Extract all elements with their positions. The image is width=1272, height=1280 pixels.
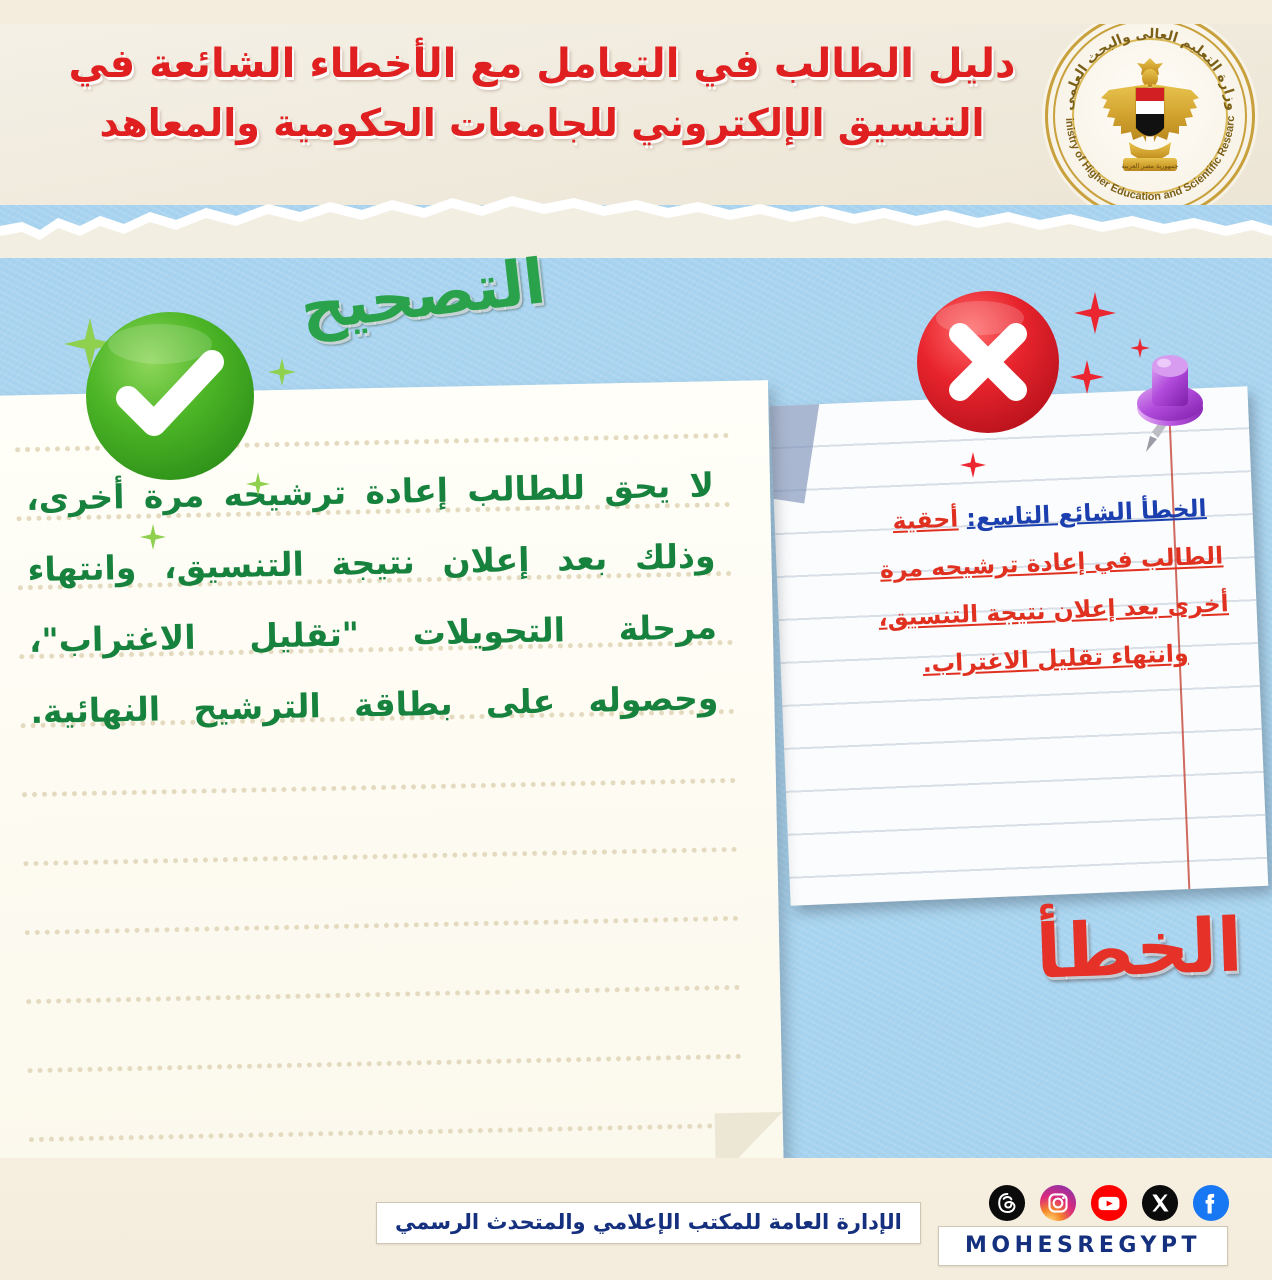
sparkle-icon [268, 358, 296, 386]
page-title: دليل الطالب في التعامل مع الأخطاء الشائع… [62, 34, 1022, 153]
social-links[interactable] [988, 1184, 1230, 1222]
x-circle-icon [912, 286, 1064, 438]
handle-badge: MOHESREGYPT [938, 1226, 1228, 1266]
sparkle-icon [1130, 338, 1150, 358]
emblem-caption: جمهورية مصر العربية [1121, 162, 1178, 170]
error-label: الخطأ [1034, 902, 1243, 995]
x-twitter-icon[interactable] [1141, 1184, 1179, 1222]
title-line-1: دليل الطالب في التعامل مع الأخطاء الشائع… [62, 34, 1022, 95]
facebook-icon[interactable] [1192, 1184, 1230, 1222]
sparkle-icon [1074, 292, 1116, 334]
sparkle-icon [140, 524, 166, 550]
footer-bar: الإدارة العامة للمكتب الإعلامي والمتحدث … [0, 1158, 1272, 1280]
error-body-text: أحقية الطالب في إعادة ترشيحه مرة أخرى بع… [878, 504, 1229, 678]
sparkle-icon [960, 452, 986, 478]
threads-icon[interactable] [988, 1184, 1026, 1222]
dotted-rule-line [29, 1123, 743, 1142]
dotted-rule-line [26, 985, 740, 1004]
footer-gold-curve [0, 0, 1272, 24]
correction-card: لا يحق للطالب إعادة ترشيحه مرة أخرى، وذل… [0, 380, 784, 1196]
dotted-rule-line [25, 916, 739, 935]
youtube-icon[interactable] [1090, 1184, 1128, 1222]
ministry-logo: وزارة التعليم العالى والبحث العلمى Minis… [1042, 8, 1258, 224]
dotted-rule-line [28, 1054, 742, 1073]
error-heading: الخطأ الشائع التاسع: [966, 494, 1207, 532]
title-line-2: التنسيق الإلكتروني للجامعات الحكومية وال… [62, 95, 1022, 153]
error-text-block: الخطأ الشائع التاسع: أحقية الطالب في إعا… [872, 483, 1234, 690]
instagram-icon[interactable] [1039, 1184, 1077, 1222]
correction-body-text: لا يحق للطالب إعادة ترشيحه مرة أخرى، وذل… [25, 449, 719, 747]
pushpin-icon [1100, 320, 1220, 470]
torn-paper-edge [0, 196, 1272, 258]
media-office-badge: الإدارة العامة للمكتب الإعلامي والمتحدث … [376, 1202, 921, 1244]
eagle-emblem-icon: جمهورية مصر العربية [1091, 54, 1209, 178]
dotted-rule-line [23, 847, 737, 866]
sparkle-icon [1070, 360, 1104, 394]
check-circle-icon [80, 306, 260, 486]
infographic-root: دليل الطالب في التعامل مع الأخطاء الشائع… [0, 0, 1272, 1280]
dotted-rule-line [22, 778, 736, 797]
